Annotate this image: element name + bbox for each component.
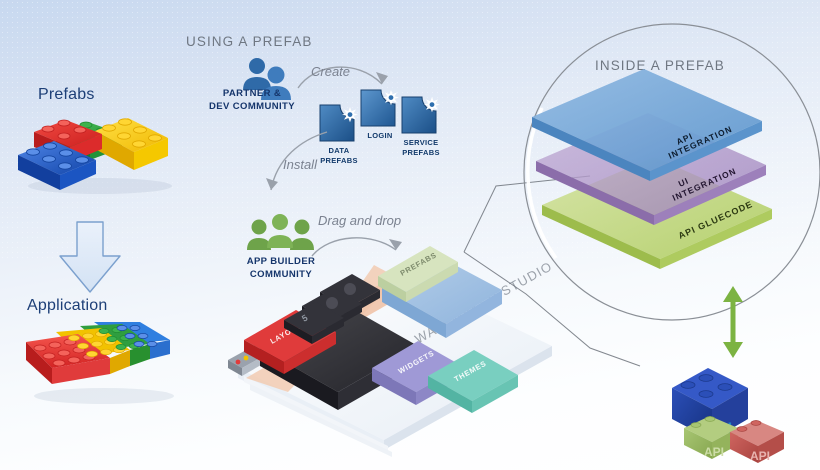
application-label: Application xyxy=(27,297,107,315)
api-brick-red: API xyxy=(730,420,784,463)
diagram-canvas: Prefabs xyxy=(0,0,820,470)
prefab-layers-stack: API GLUECODE UI INTEGRATION API INTEGRAT… xyxy=(528,85,818,285)
prefabs-bricks-icon xyxy=(10,100,185,195)
down-arrow-icon xyxy=(50,218,130,298)
api-bricks-group: API API API xyxy=(668,366,813,466)
service-prefabs-label-line2: PREFABS xyxy=(393,148,449,158)
api-brick-red-label: API xyxy=(750,449,770,463)
application-bricks-icon xyxy=(22,318,187,408)
service-prefabs-icon xyxy=(400,95,442,137)
api-brick-green-label: API xyxy=(704,445,724,459)
sync-double-arrow-icon xyxy=(720,286,746,358)
drag-and-drop-label: Drag and drop xyxy=(318,213,401,228)
partner-community-label-line2: DEV COMMUNITY xyxy=(193,101,311,113)
service-prefabs-label-line1: SERVICE xyxy=(393,138,449,148)
install-arrow-label: Install xyxy=(283,157,317,172)
login-prefab-icon xyxy=(359,88,401,130)
partner-community-label-line1: PARTNER & xyxy=(193,88,311,100)
using-prefab-heading: USING A PREFAB xyxy=(186,34,312,49)
create-arrow-label: Create xyxy=(311,64,350,79)
inside-prefab-heading: INSIDE A PREFAB xyxy=(595,58,725,73)
